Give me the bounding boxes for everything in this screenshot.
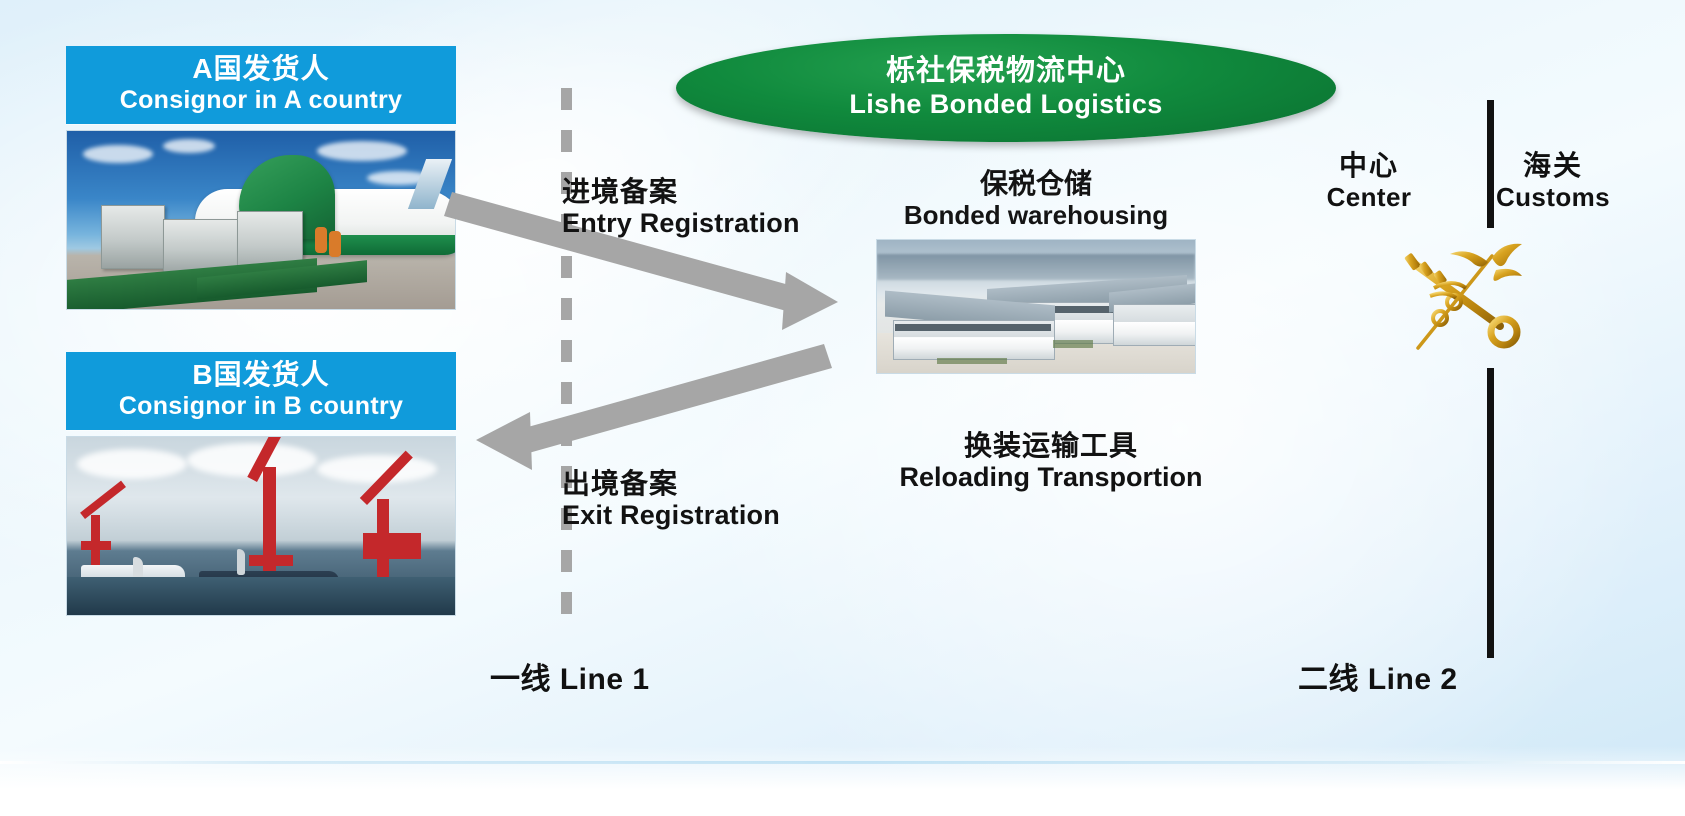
zone-center: 中心 Center xyxy=(1310,150,1428,212)
exit-registration-zh: 出境备案 xyxy=(562,468,780,500)
bottom-divider xyxy=(0,761,1685,764)
exit-registration-label: 出境备案 Exit Registration xyxy=(562,468,780,532)
bonded-warehousing-en: Bonded warehousing xyxy=(876,201,1196,231)
consignor-b-label-en: Consignor in B country xyxy=(72,393,450,420)
zone-customs-en: Customs xyxy=(1488,183,1618,212)
consignor-a-label-en: Consignor in A country xyxy=(72,87,450,114)
exit-registration-en: Exit Registration xyxy=(562,500,780,531)
air-cargo-plane-loading-photo xyxy=(66,130,456,310)
zone-customs: 海关 Customs xyxy=(1488,150,1618,212)
customs-key-caduceus-emblem xyxy=(1396,240,1526,360)
line-1-label: 一线 Line 1 xyxy=(490,654,650,698)
zone-center-en: Center xyxy=(1310,183,1428,212)
reloading-transport-zh: 换装运输工具 xyxy=(836,430,1266,462)
hub-title-zh: 栎社保税物流中心 xyxy=(886,56,1126,88)
bonded-warehousing-zh: 保税仓储 xyxy=(876,168,1196,200)
entry-registration-label: 进境备案 Entry Registration xyxy=(562,176,800,240)
seaport-cranes-ships-photo xyxy=(66,436,456,616)
entry-registration-zh: 进境备案 xyxy=(562,176,800,208)
line-2-solid-boundary-lower xyxy=(1487,368,1494,658)
consignor-b-label-zh: B国发货人 xyxy=(72,360,450,390)
bonded-logistics-center-node: 栎社保税物流中心 Lishe Bonded Logistics xyxy=(676,34,1336,142)
hub-title-en: Lishe Bonded Logistics xyxy=(849,90,1162,120)
bonded-warehousing-block: 保税仓储 Bonded warehousing xyxy=(876,168,1196,374)
exit-registration-arrow xyxy=(476,344,832,470)
consignor-b-card: B国发货人 Consignor in B country xyxy=(66,352,456,616)
consignor-a-caption: A国发货人 Consignor in A country xyxy=(66,46,456,124)
reloading-transport-label: 换装运输工具 Reloading Transportion xyxy=(836,430,1266,494)
zone-customs-zh: 海关 xyxy=(1488,150,1618,181)
diagram-canvas: A国发货人 Consignor in A country B国发货人 Consi… xyxy=(0,0,1685,816)
center-customs-labels: 中心 Center 海关 Customs xyxy=(1310,150,1618,212)
reloading-transport-en: Reloading Transportion xyxy=(836,462,1266,493)
consignor-a-label-zh: A国发货人 xyxy=(72,54,450,84)
line-2-label: 二线 Line 2 xyxy=(1298,654,1458,698)
consignor-a-card: A国发货人 Consignor in A country xyxy=(66,46,456,310)
zone-center-zh: 中心 xyxy=(1310,150,1428,181)
bonded-warehouse-aerial-photo xyxy=(876,239,1196,374)
line-1-dashed-boundary xyxy=(561,88,572,628)
consignor-b-caption: B国发货人 Consignor in B country xyxy=(66,352,456,430)
entry-registration-en: Entry Registration xyxy=(562,208,800,239)
